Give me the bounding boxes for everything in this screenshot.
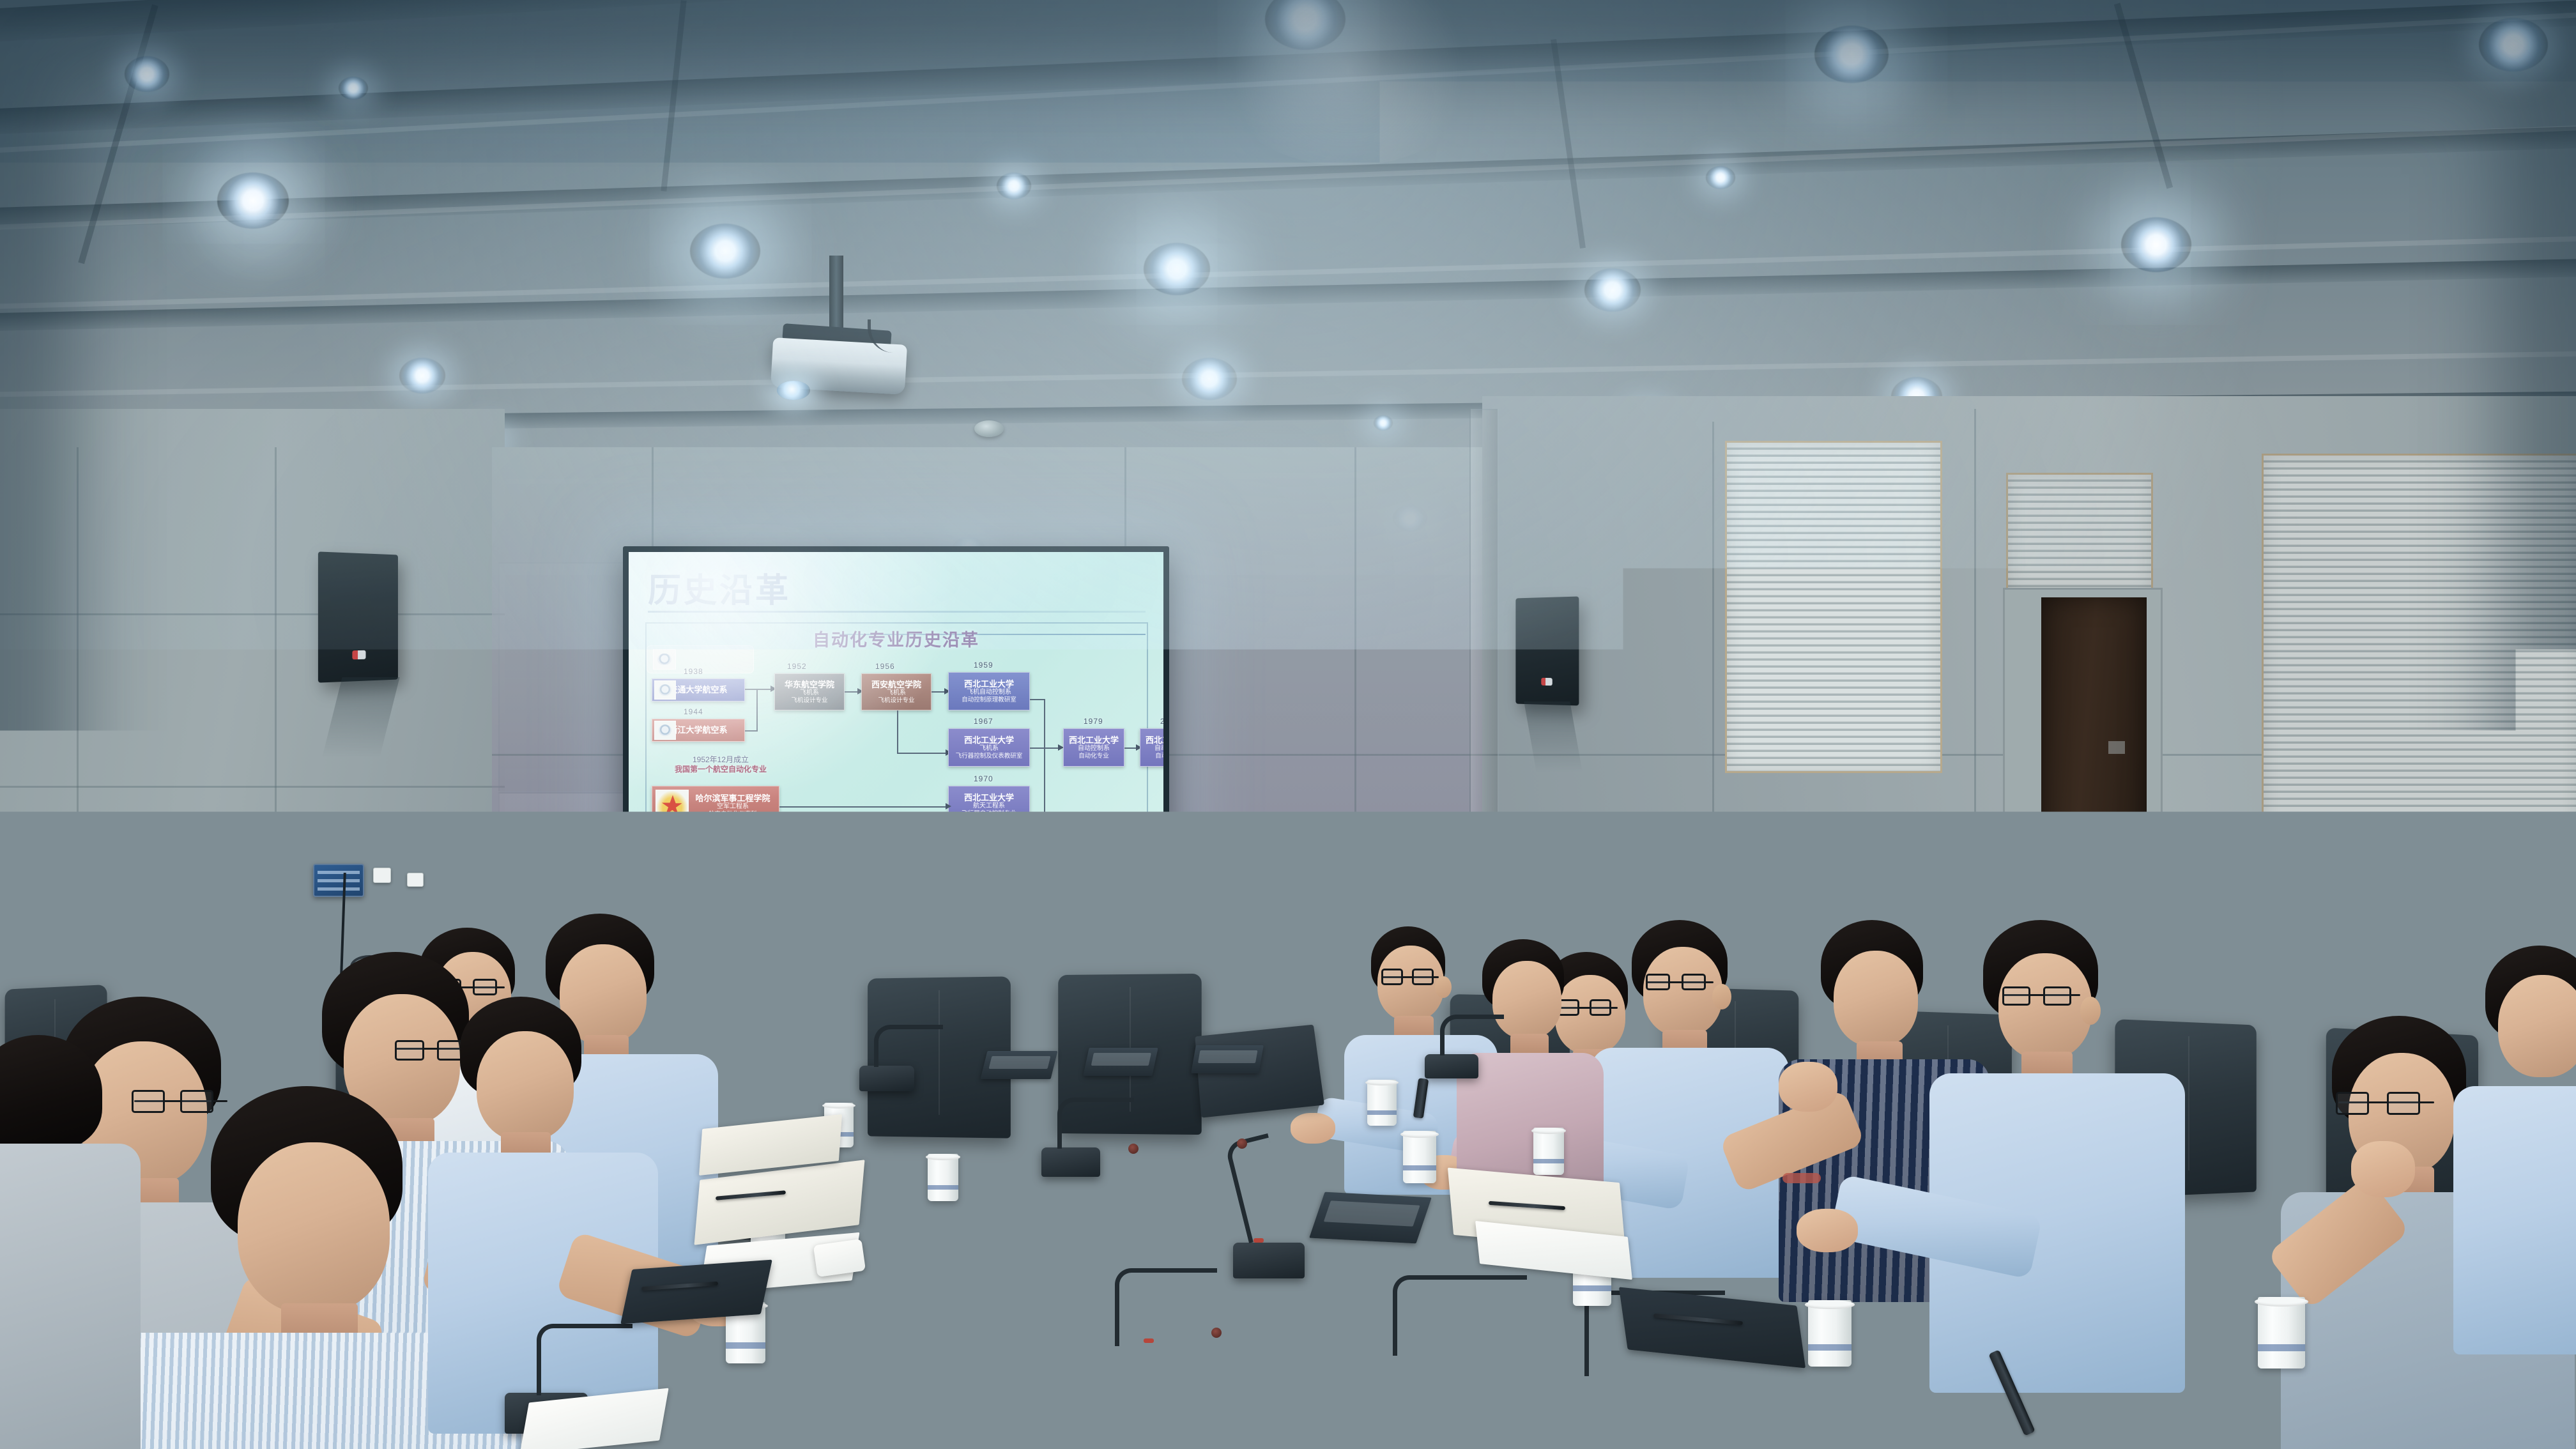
microphone-gooseneck [874, 1025, 943, 1067]
microphone-gooseneck [1115, 1268, 1217, 1346]
node-year: 1959 [974, 661, 993, 670]
timeline-node: 西北工业大学 飞机系 飞行器控制及仪表教研室 [948, 728, 1030, 767]
wall-outlet[interactable] [407, 873, 424, 887]
timeline-node: 哈尔滨军事工程系 空军工程系 航空电气工程专业 [782, 888, 871, 925]
notebook[interactable] [960, 1312, 1097, 1365]
node-sub2: 自动化专业 [1146, 753, 1163, 760]
ceiling-light [1814, 26, 1889, 83]
ceiling-light [1706, 166, 1735, 189]
hand [1797, 1209, 1858, 1252]
nameplate [1083, 1048, 1158, 1076]
window-blinds[interactable] [1725, 441, 1942, 773]
node-year: 2003 [1122, 877, 1142, 885]
node-sub2: 自动控制原理教研室 [962, 696, 1016, 703]
head [477, 1031, 574, 1141]
projector-lens-icon [777, 381, 810, 400]
glasses-icon [1383, 976, 1439, 978]
ear [2080, 997, 2101, 1025]
left-wall-speaker [318, 551, 398, 682]
node-label: 西北工业大学 [908, 894, 958, 904]
timeline-node: 西北工业大学 自动控制系 航空电气工程专业 [994, 888, 1073, 925]
node-logo-icon [654, 721, 676, 740]
notebook[interactable] [620, 1260, 772, 1324]
ceiling-light [217, 172, 289, 229]
ceiling-light [1374, 415, 1393, 431]
hand [1779, 1062, 1837, 1112]
door-plate [2108, 741, 2125, 754]
window-blinds[interactable] [2262, 454, 2576, 958]
pla-star-emblem-icon [655, 790, 689, 822]
slide-title: 历史沿革 [648, 563, 1147, 611]
node-sub2: 飞机设计专业 [871, 697, 921, 704]
wall-notice-sheet [263, 845, 305, 901]
node-logo-icon [654, 680, 676, 700]
ear [1435, 976, 1452, 998]
node-sub2: 自动化专业 [1069, 753, 1119, 760]
origin-note: 1952年12月成立 我国第一个航空电气工程专业 [647, 862, 793, 882]
microphone-gooseneck [537, 1324, 632, 1395]
microphone-head-icon [1237, 1138, 1247, 1149]
timeline-node: 西安航空学院 飞机系 飞机设计专业 [861, 673, 931, 710]
ceiling-light [690, 224, 760, 279]
door-handle-icon[interactable] [2139, 872, 2145, 894]
microphone-gooseneck [1393, 1275, 1527, 1356]
node-label: 西安航空学院 [871, 680, 921, 689]
node-sub2: 航空电气工程专业 [1009, 912, 1059, 919]
node-label: 西北工业大学 [962, 793, 1016, 802]
node-sub1: 空军工程系 [793, 904, 860, 912]
node-label: 西北工业大学 [1105, 894, 1155, 904]
origin-note-line2: 我国第一个航空自动化专业 [675, 765, 767, 774]
paper-cup[interactable] [1808, 1300, 1851, 1367]
table-reflection [795, 1377, 898, 1447]
microphone-head-icon [1211, 1328, 1222, 1338]
node-sub2: 飞行器控制及仪表教研室 [956, 753, 1023, 760]
ceiling-light [1182, 358, 1237, 400]
microphone-base[interactable] [1354, 1353, 1444, 1397]
node-sub2: 飞行器自动控制专业 [962, 810, 1016, 817]
pla-star-emblem-icon [647, 892, 678, 921]
node-label: 哈尔滨军事工程学院 [681, 894, 756, 904]
node-year: 1979 [1023, 877, 1043, 885]
node-sub2: 航空电机电气科 [681, 912, 756, 919]
projector-mount-pole [829, 256, 843, 337]
node-label: 西北工业大学 [956, 735, 1023, 745]
wristband [1782, 1173, 1821, 1183]
node-year: 1952 [787, 662, 807, 671]
node-sub1: 航天工程系 [962, 802, 1016, 810]
head [2498, 975, 2576, 1077]
origin-note-line1: 1952年12月成立 [692, 862, 748, 871]
head [1834, 951, 1918, 1046]
torso [2453, 1086, 2576, 1354]
microphone-base[interactable] [859, 1066, 914, 1091]
microphone-gooseneck [1057, 1098, 1134, 1149]
window-blinds-transom[interactable] [2006, 473, 2153, 594]
ceiling-light [997, 172, 1031, 199]
nameplate [981, 1051, 1058, 1079]
node-year: 1979 [1084, 717, 1103, 726]
node-sub1: 自动控制系 [1009, 904, 1059, 912]
node-sub1: 自动化学院 [1146, 745, 1163, 753]
glasses-icon [2338, 1101, 2434, 1103]
glasses-icon [1559, 1007, 1618, 1009]
ceiling-light [2121, 217, 2191, 272]
node-year: 1967 [974, 717, 993, 726]
head [1998, 953, 2092, 1059]
node-sub1: 飞机自动控制系 [962, 689, 1016, 696]
av-control-panel[interactable] [313, 864, 364, 897]
node-year: 1970 [974, 774, 993, 783]
timeline-node: 西北工业大学 自动化学院 自动化专业 [1140, 728, 1163, 767]
microphone-base[interactable] [1233, 1243, 1305, 1278]
paper-cup[interactable] [1403, 1131, 1436, 1183]
node-label: 交通大学航空系 [669, 685, 727, 694]
node-sub1: 航天工程系 [908, 904, 958, 912]
ceiling-light [399, 358, 445, 394]
glasses-icon [1647, 981, 1713, 983]
node-year: 1944 [684, 707, 703, 716]
microphone-base[interactable] [1546, 1374, 1642, 1420]
right-wall-speaker [1515, 596, 1579, 705]
timeline-node: 西北工业大学 自动控制系 自动化专业 [1063, 728, 1124, 767]
node-label: 西北工业大学 [1146, 735, 1163, 745]
node-label: 华东航空学院 [785, 680, 834, 689]
node-sub1: 空军工程系 [681, 904, 756, 912]
node-sub1: 空军工程系 [695, 803, 770, 811]
node-sub1: 自动控制系 [1069, 745, 1119, 753]
slide-content: 历史沿革 自动化专业历史沿革 1938 交通大学航空系 1944 浙江 [629, 552, 1163, 943]
timeline-node: 华东航空学院 飞机系 飞机设计专业 [774, 673, 845, 710]
node-year: 1970 [923, 877, 942, 885]
glasses-icon [2004, 994, 2080, 996]
node-sub2: 航空电气工程专业 [793, 912, 860, 919]
ceiling-light [339, 77, 368, 100]
paper-cup[interactable] [928, 1154, 958, 1201]
ear [1712, 984, 1731, 1009]
microphone-head-icon [1128, 1144, 1138, 1154]
paper-cup[interactable] [1367, 1080, 1397, 1126]
microphone-led-icon [1144, 1338, 1154, 1343]
timeline-node: 西北工业大学 航天工程系 航空电机电器专业 [891, 888, 975, 925]
origin-note-line2: 我国第一个航空电气工程专业 [670, 872, 770, 881]
nameplate [854, 1257, 954, 1293]
origin-note: 1952年12月成立 我国第一个航空自动化专业 [650, 755, 791, 774]
microphone-base[interactable] [1425, 1054, 1478, 1078]
table-reflection [821, 1300, 917, 1367]
node-sub1: 飞机系 [956, 745, 1023, 753]
light-switch[interactable] [2227, 934, 2248, 967]
hand [1291, 1113, 1335, 1144]
ceiling-light [125, 56, 169, 92]
microphone-base[interactable] [1041, 1147, 1100, 1177]
section-heading: 电气工程专业历史沿革 [629, 836, 1163, 861]
paper-cup[interactable] [1533, 1128, 1564, 1175]
slide-page-number: 4 [1141, 921, 1147, 934]
timeline-node: 西北工业大学 飞机自动控制系 自动控制原理教研室 [948, 672, 1030, 710]
node-sub2: 电气工程专业 [1105, 912, 1155, 919]
projection-screen: 历史沿革 自动化专业历史沿革 1938 交通大学航空系 1944 浙江 [623, 546, 1169, 949]
wall-outlet[interactable] [373, 868, 391, 883]
ceiling-light [1144, 243, 1210, 295]
node-label: 西北工业大学 [1069, 735, 1119, 745]
node-sub1: 飞机系 [785, 689, 834, 697]
tissue [813, 1239, 866, 1277]
nameplate [1309, 1192, 1432, 1244]
nameplate [1191, 1045, 1264, 1073]
node-label: 西北工业大学 [1009, 894, 1059, 904]
node-year: 1938 [684, 667, 703, 676]
head [238, 1142, 390, 1314]
node-label: 哈尔滨军事工程系 [793, 894, 860, 904]
smoke-detector-icon [974, 420, 1004, 437]
node-year: 1960 [815, 877, 835, 885]
node-year: 2003 [1160, 717, 1163, 726]
node-sub1: 自动化学院 [1105, 904, 1155, 912]
ceiling-light [1584, 268, 1641, 312]
timeline-node: 西北工业大学 自动化学院 电气工程专业 [1092, 888, 1163, 925]
origin-note-line1: 1952年12月成立 [693, 755, 749, 764]
section-heading: 自动化专业历史沿革 [629, 626, 1163, 651]
ceiling-light [2479, 18, 2548, 72]
hand [2351, 1141, 2415, 1197]
head [1643, 947, 1722, 1036]
torso [0, 1144, 141, 1449]
microphone-led-icon [1253, 1238, 1264, 1243]
node-label: 哈尔滨军事工程学院 [695, 793, 770, 803]
node-sub1: 飞机系 [871, 689, 921, 697]
node-sub2: 航空电机电器专业 [908, 912, 958, 919]
node-label: 西北工业大学 [962, 679, 1016, 689]
node-sub2: 飞机设计专业 [785, 697, 834, 704]
slide-surface: 历史沿革 自动化专业历史沿革 1938 交通大学航空系 1944 浙江 [629, 552, 1163, 943]
microphone-gooseneck [1440, 1015, 1504, 1055]
node-year: 1956 [875, 662, 895, 671]
node-label: 浙江大学航空系 [669, 725, 727, 735]
paper-cup[interactable] [2258, 1297, 2305, 1368]
node-sub2: 航空自动化仪表科 [695, 811, 770, 818]
glasses-icon [134, 1100, 227, 1102]
timeline-node: 西北工业大学 航天工程系 飞行器自动控制专业 [948, 786, 1030, 824]
conference-room-photo: 历史沿革 自动化专业历史沿革 1938 交通大学航空系 1944 浙江 [0, 0, 2576, 1449]
